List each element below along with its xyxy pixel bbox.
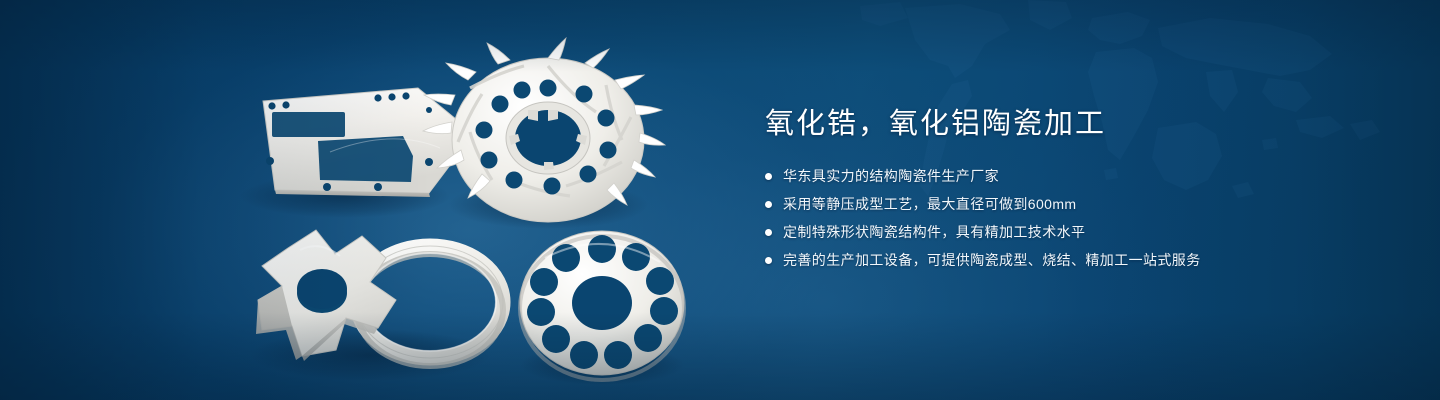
- bullet-dot-icon: [765, 173, 772, 180]
- feature-text: 华东具实力的结构陶瓷件生产厂家: [783, 166, 999, 187]
- bullet-dot-icon: [765, 257, 772, 264]
- feature-text: 采用等静压成型工艺，最大直径可做到600mm: [783, 194, 1076, 215]
- list-item: 采用等静压成型工艺，最大直径可做到600mm: [765, 194, 1385, 215]
- feature-list: 华东具实力的结构陶瓷件生产厂家 采用等静压成型工艺，最大直径可做到600mm 定…: [765, 166, 1385, 271]
- banner-copy: 氧化锆，氧化铝陶瓷加工 华东具实力的结构陶瓷件生产厂家 采用等静压成型工艺，最大…: [765, 104, 1385, 271]
- promo-banner: 氧化锆，氧化铝陶瓷加工 华东具实力的结构陶瓷件生产厂家 采用等静压成型工艺，最大…: [0, 0, 1440, 400]
- list-item: 完善的生产加工设备，可提供陶瓷成型、烧结、精加工一站式服务: [765, 250, 1385, 271]
- list-item: 华东具实力的结构陶瓷件生产厂家: [765, 166, 1385, 187]
- bullet-dot-icon: [765, 201, 772, 208]
- feature-text: 完善的生产加工设备，可提供陶瓷成型、烧结、精加工一站式服务: [783, 250, 1201, 271]
- bullet-dot-icon: [765, 229, 772, 236]
- feature-text: 定制特殊形状陶瓷结构件，具有精加工技术水平: [783, 222, 1085, 243]
- banner-headline: 氧化锆，氧化铝陶瓷加工: [765, 104, 1385, 144]
- list-item: 定制特殊形状陶瓷结构件，具有精加工技术水平: [765, 222, 1385, 243]
